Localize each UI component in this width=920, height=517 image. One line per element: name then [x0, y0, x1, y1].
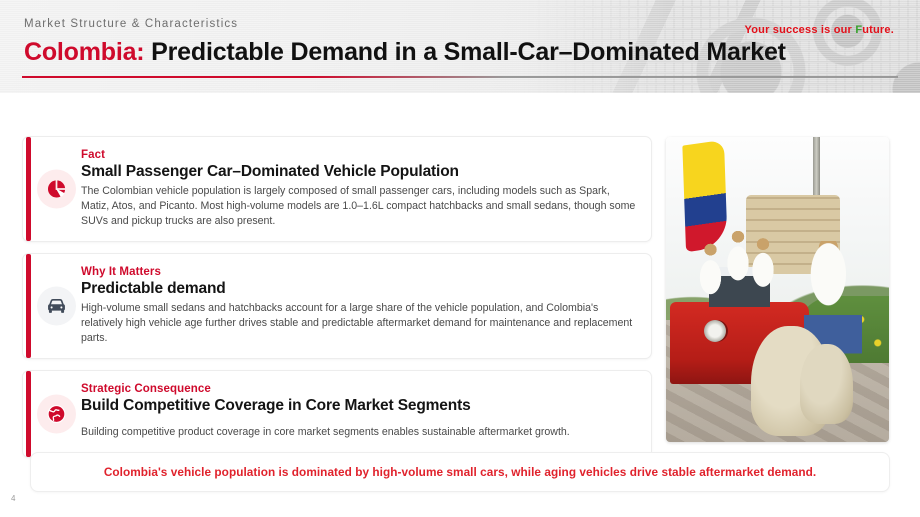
card-kicker: Strategic Consequence [81, 383, 637, 395]
card-title: Build Competitive Coverage in Core Marke… [81, 397, 637, 415]
insight-card-list: Fact Small Passenger Car–Dominated Vehic… [22, 136, 652, 469]
car-icon [37, 287, 76, 326]
slide: Market Structure & Characteristics Your … [0, 0, 920, 517]
summary-text: Colombia's vehicle population is dominat… [104, 465, 816, 479]
insight-card-fact[interactable]: Fact Small Passenger Car–Dominated Vehic… [22, 136, 652, 242]
page-title-rest: Predictable Demand in a Small-Car–Domina… [144, 38, 785, 66]
insight-card-why-it-matters[interactable]: Why It Matters Predictable demand High-v… [22, 253, 652, 359]
title-divider-rule [22, 76, 898, 78]
brand-tagline: Your success is our Future. [745, 24, 894, 36]
card-kicker: Fact [81, 149, 637, 161]
tagline-text-before: Your success is our [745, 24, 856, 36]
photo-family-group [688, 222, 813, 314]
photo-large-sack-right [800, 344, 854, 423]
card-body-text: Building competitive product coverage in… [81, 425, 637, 440]
summary-callout-bar: Colombia's vehicle population is dominat… [30, 452, 890, 492]
page-title-accent: Colombia: [24, 38, 144, 66]
card-body-text: High-volume small sedans and hatchbacks … [81, 301, 637, 346]
card-body-text: The Colombian vehicle population is larg… [81, 184, 637, 229]
colombia-family-jeep-photo [666, 137, 889, 442]
page-number: 4 [11, 494, 15, 503]
insight-card-strategic-consequence[interactable]: Strategic Consequence Build Competitive … [22, 370, 652, 458]
pie-chart-icon [37, 170, 76, 209]
card-title: Predictable demand [81, 280, 637, 298]
slide-header: Market Structure & Characteristics Your … [0, 0, 920, 93]
eyebrow-label: Market Structure & Characteristics [24, 18, 238, 30]
globe-icon [37, 395, 76, 434]
tagline-text-after: uture. [862, 24, 894, 36]
card-kicker: Why It Matters [81, 266, 637, 278]
card-title: Small Passenger Car–Dominated Vehicle Po… [81, 163, 637, 181]
page-title: Colombia: Predictable Demand in a Small-… [24, 38, 786, 67]
